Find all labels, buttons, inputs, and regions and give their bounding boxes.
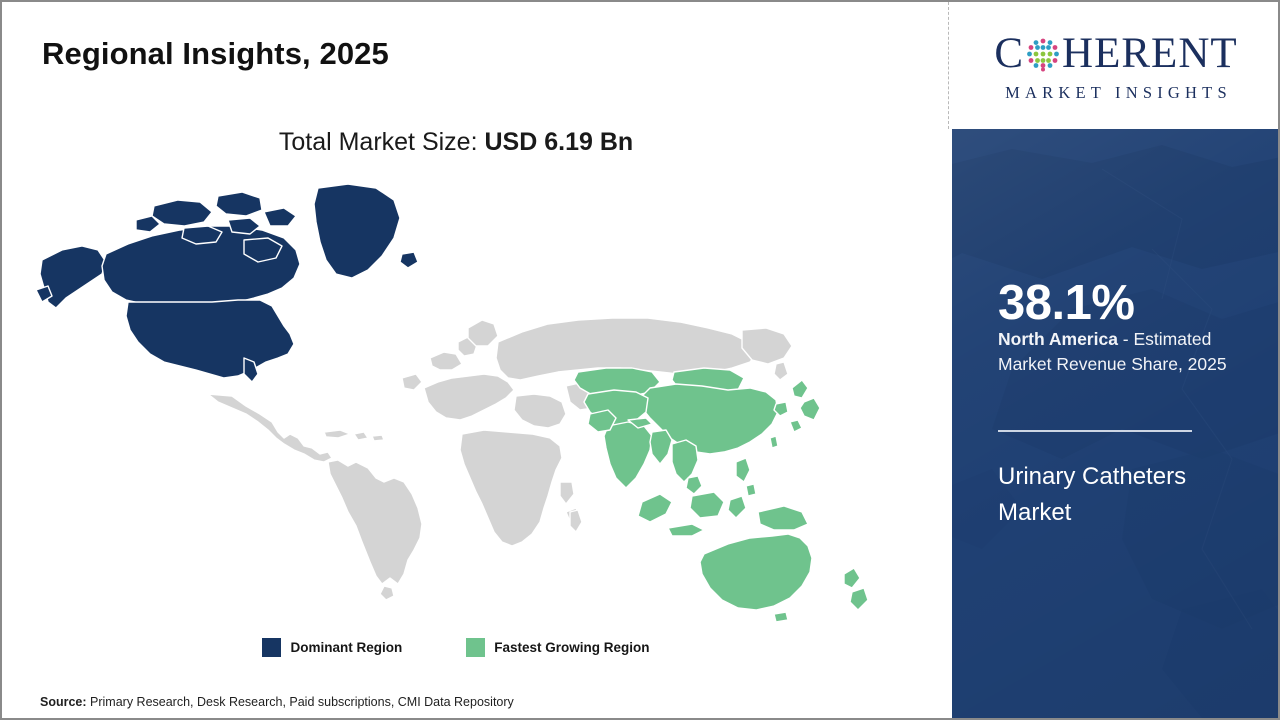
market-size-label: Total Market Size: xyxy=(279,128,478,156)
panel-divider-rule xyxy=(998,430,1192,432)
stat-value: 38.1% xyxy=(998,279,1134,328)
infographic-frame: Regional Insights, 2025 Total Market Siz… xyxy=(0,0,1280,720)
stat-description: North America - Estimated Market Revenue… xyxy=(998,327,1266,378)
legend-label-dominant: Dominant Region xyxy=(290,640,402,655)
source-label: Source: xyxy=(40,695,87,709)
page-title: Regional Insights, 2025 xyxy=(42,36,389,72)
stat-panel: 38.1% North America - Estimated Market R… xyxy=(952,129,1280,718)
source-text: Primary Research, Desk Research, Paid su… xyxy=(87,695,514,709)
legend-label-fastest-growing: Fastest Growing Region xyxy=(494,640,649,655)
legend-item-fastest-growing: Fastest Growing Region xyxy=(466,638,649,657)
logo-letter-c: C xyxy=(994,32,1024,75)
left-content-pane: Regional Insights, 2025 Total Market Siz… xyxy=(2,2,950,718)
map-legend: Dominant Region Fastest Growing Region xyxy=(2,638,910,657)
legend-swatch-dominant xyxy=(262,638,281,657)
legend-item-dominant: Dominant Region xyxy=(262,638,402,657)
brand-logo[interactable]: C xyxy=(952,2,1280,129)
dominant-region-north-america xyxy=(36,184,418,382)
growth-region-asia-pacific xyxy=(574,368,868,622)
total-market-size: Total Market Size: USD 6.19 Bn xyxy=(2,128,910,157)
stat-region-name: North America xyxy=(998,329,1118,349)
dotted-globe-icon xyxy=(1025,36,1061,72)
market-name: Urinary Catheters Market xyxy=(998,459,1258,530)
source-line: Source: Primary Research, Desk Research,… xyxy=(40,695,514,709)
logo-tagline: MARKET INSIGHTS xyxy=(1000,83,1232,103)
panel-gradient-overlay xyxy=(952,129,1280,718)
logo-wordmark-row: C xyxy=(994,29,1237,79)
market-size-value: USD 6.19 Bn xyxy=(484,128,633,156)
right-panel: C xyxy=(952,2,1280,718)
world-map xyxy=(32,182,892,622)
legend-swatch-fastest-growing xyxy=(466,638,485,657)
logo-word-herent: HERENT xyxy=(1062,32,1238,75)
vertical-dashed-divider xyxy=(948,2,949,129)
